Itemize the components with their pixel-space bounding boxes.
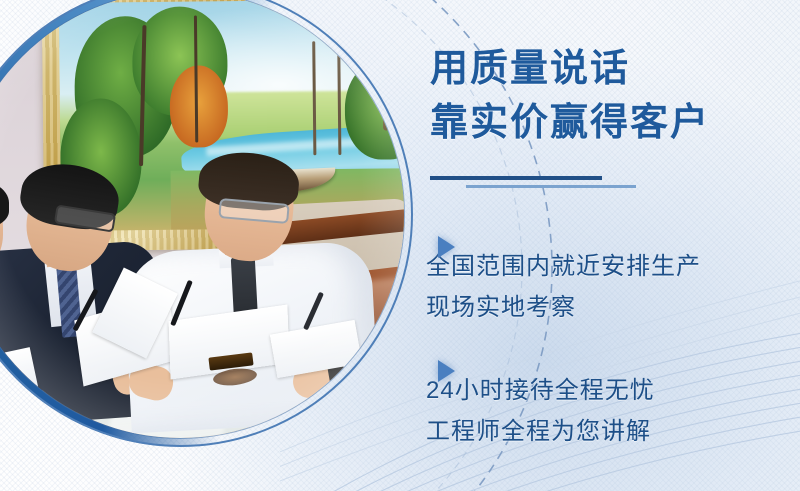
- circular-photo: [0, 0, 413, 447]
- promo-banner: 用质量说话 靠实价赢得客户 全国范围内就近安排生产 现场实地考察 24小时接待全…: [0, 0, 800, 491]
- bullet-item: 全国范围内就近安排生产 现场实地考察: [426, 228, 798, 328]
- content-panel: 用质量说话 靠实价赢得客户 全国范围内就近安排生产 现场实地考察 24小时接待全…: [418, 0, 800, 491]
- arrow-right-icon: [438, 360, 455, 382]
- headline-line-1: 用质量说话: [430, 48, 630, 90]
- headline-line-2: 靠实价赢得客户: [430, 96, 790, 150]
- bullet-list: 全国范围内就近安排生产 现场实地考察 24小时接待全程无忧 工程师全程为您讲解: [426, 228, 798, 476]
- divider-line-light: [466, 185, 636, 188]
- divider-line-dark: [430, 176, 602, 180]
- arrow-right-icon: [438, 236, 455, 258]
- headline: 用质量说话 靠实价赢得客户: [430, 42, 790, 150]
- bullet-line: 现场实地考察: [426, 287, 798, 328]
- headline-divider: [430, 176, 660, 190]
- bullet-item: 24小时接待全程无忧 工程师全程为您讲解: [426, 352, 798, 452]
- bullet-line: 24小时接待全程无忧: [426, 370, 798, 411]
- bullet-line: 工程师全程为您讲解: [426, 411, 798, 452]
- bullet-line: 全国范围内就近安排生产: [426, 246, 798, 287]
